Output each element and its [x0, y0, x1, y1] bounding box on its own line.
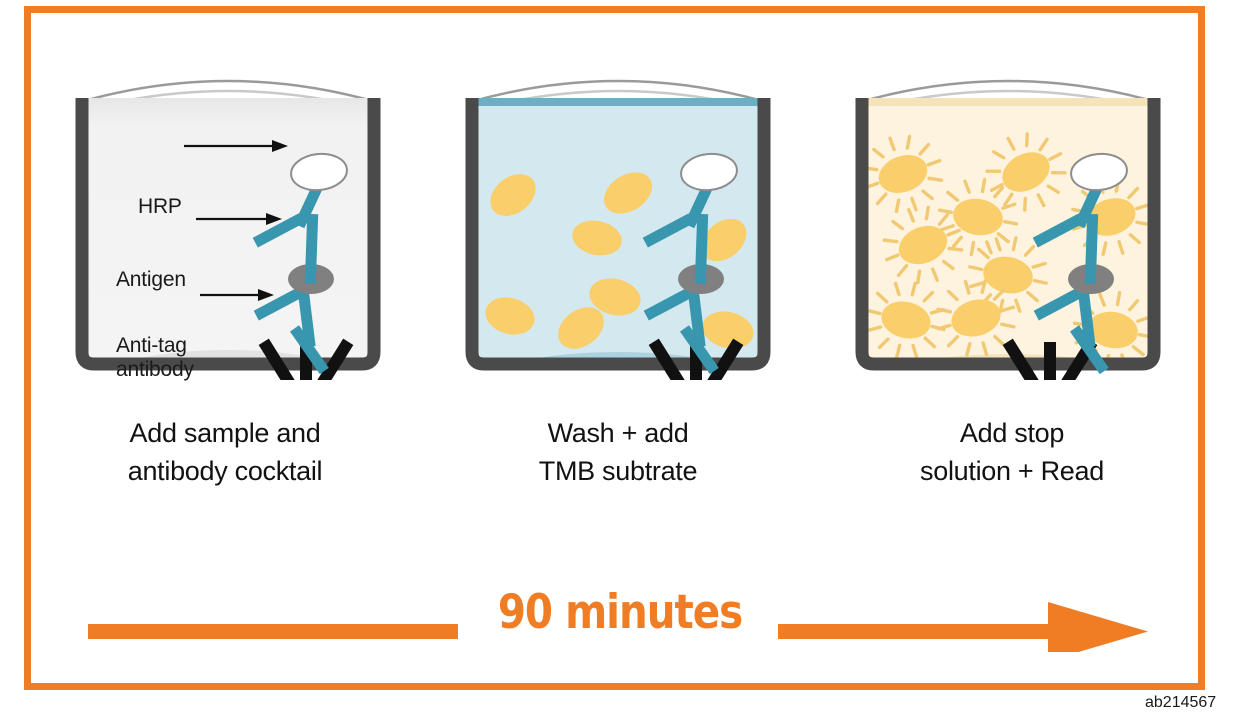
timeline-arrow: 90 minutes: [88, 592, 1148, 652]
label-hrp: HRP: [138, 195, 182, 219]
timeline-arrow-head: [1048, 602, 1148, 652]
timeline-duration-label: 90 minutes: [482, 589, 757, 636]
well-step-3: [848, 62, 1168, 380]
well-step-2: TMB substrate: [458, 62, 778, 380]
timeline-bar-right: [778, 624, 1063, 639]
caption-step-1: Add sample and antibody cocktail: [45, 414, 405, 491]
product-code: ab214567: [1145, 694, 1216, 712]
caption-step-3: Add stop solution + Read: [832, 414, 1192, 491]
label-antigen: Antigen: [116, 268, 186, 292]
well-step-1: HRP Antigen Anti-tag antibody: [68, 62, 388, 380]
diagram-canvas: HRP Antigen Anti-tag antibody: [0, 0, 1234, 720]
timeline-bar-left: [88, 624, 458, 639]
label-anti-tag: Anti-tag antibody: [116, 334, 194, 381]
well-liquid-body: [68, 92, 388, 372]
caption-step-2: Wash + add TMB subtrate: [438, 414, 798, 491]
